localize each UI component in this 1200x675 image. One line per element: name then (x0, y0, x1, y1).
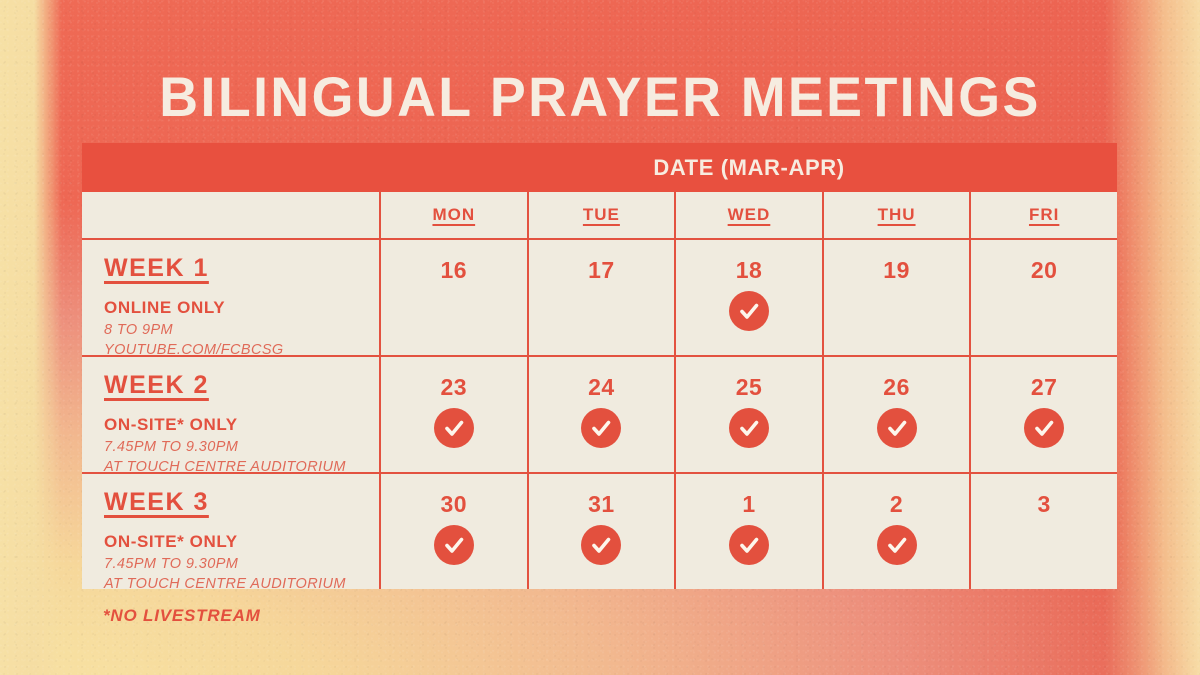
column-header-mon: MON (381, 192, 529, 238)
date-number: 3 (1038, 489, 1051, 519)
table-header-row: MON TUE WED THU FRI (82, 192, 1117, 238)
date-cell: 27 (971, 357, 1117, 472)
day-label: WED (728, 205, 771, 225)
check-icon (729, 408, 769, 448)
check-icon (581, 525, 621, 565)
poster-canvas: BILINGUAL PRAYER MEETINGS DATE (MAR-APR)… (0, 0, 1200, 675)
date-cell: 30 (381, 474, 529, 589)
date-cell: 2 (824, 474, 972, 589)
date-number: 1 (742, 489, 755, 519)
day-label: TUE (583, 205, 620, 225)
date-cell: 3 (971, 474, 1117, 589)
date-cell: 25 (676, 357, 824, 472)
table-grid: MON TUE WED THU FRI WEEK 1 ONLINE O (82, 192, 1117, 589)
week-info-cell: WEEK 3 ON-SITE* ONLY 7.45PM TO 9.30PM AT… (82, 474, 381, 589)
date-cell: 23 (381, 357, 529, 472)
column-header-tue: TUE (529, 192, 677, 238)
check-icon (434, 408, 474, 448)
check-icon (1024, 408, 1064, 448)
date-cell: 26 (824, 357, 972, 472)
week-title: WEEK 3 (104, 488, 379, 517)
check-icon (877, 525, 917, 565)
week-title: WEEK 1 (104, 254, 379, 283)
check-icon (729, 291, 769, 331)
week-mode: ONLINE ONLY (104, 298, 379, 318)
date-cell: 17 (529, 240, 677, 355)
date-number: 23 (441, 372, 468, 402)
week-info-cell: WEEK 1 ONLINE ONLY 8 TO 9PM YOUTUBE.COM/… (82, 240, 381, 355)
week-time: 8 TO 9PM (104, 321, 379, 341)
week-time: 7.45PM TO 9.30PM (104, 555, 379, 575)
footnote: *NO LIVESTREAM (103, 606, 261, 626)
date-number: 31 (588, 489, 615, 519)
date-number: 24 (588, 372, 615, 402)
date-cell: 19 (824, 240, 972, 355)
check-icon (877, 408, 917, 448)
date-number: 2 (890, 489, 903, 519)
schedule-table: DATE (MAR-APR) MON TUE WED THU FRI (82, 143, 1117, 589)
date-cell: 16 (381, 240, 529, 355)
date-number: 16 (441, 255, 468, 285)
header-corner-cell (82, 192, 381, 238)
date-header-label: DATE (MAR-APR) (381, 155, 1117, 181)
week-info-cell: WEEK 2 ON-SITE* ONLY 7.45PM TO 9.30PM AT… (82, 357, 381, 472)
week-place: AT TOUCH CENTRE AUDITORIUM (104, 575, 379, 595)
date-number: 27 (1031, 372, 1058, 402)
day-label: THU (878, 205, 916, 225)
table-row: WEEK 3 ON-SITE* ONLY 7.45PM TO 9.30PM AT… (82, 472, 1117, 589)
date-number: 19 (883, 255, 910, 285)
week-mode: ON-SITE* ONLY (104, 532, 379, 552)
week-mode: ON-SITE* ONLY (104, 415, 379, 435)
date-number: 18 (736, 255, 763, 285)
check-icon (434, 525, 474, 565)
week-title: WEEK 2 (104, 371, 379, 400)
table-date-header-bar: DATE (MAR-APR) (82, 143, 1117, 192)
day-label: FRI (1029, 205, 1059, 225)
date-number: 20 (1031, 255, 1058, 285)
week-time: 7.45PM TO 9.30PM (104, 438, 379, 458)
date-cell: 18 (676, 240, 824, 355)
day-label: MON (432, 205, 475, 225)
table-row: WEEK 1 ONLINE ONLY 8 TO 9PM YOUTUBE.COM/… (82, 238, 1117, 355)
date-number: 26 (883, 372, 910, 402)
date-number: 30 (441, 489, 468, 519)
check-icon (729, 525, 769, 565)
date-cell: 20 (971, 240, 1117, 355)
page-title: BILINGUAL PRAYER MEETINGS (24, 64, 1176, 129)
date-number: 17 (588, 255, 615, 285)
check-icon (581, 408, 621, 448)
date-cell: 24 (529, 357, 677, 472)
table-row: WEEK 2 ON-SITE* ONLY 7.45PM TO 9.30PM AT… (82, 355, 1117, 472)
date-number: 25 (736, 372, 763, 402)
column-header-wed: WED (676, 192, 824, 238)
column-header-fri: FRI (971, 192, 1117, 238)
date-cell: 1 (676, 474, 824, 589)
date-cell: 31 (529, 474, 677, 589)
column-header-thu: THU (824, 192, 972, 238)
